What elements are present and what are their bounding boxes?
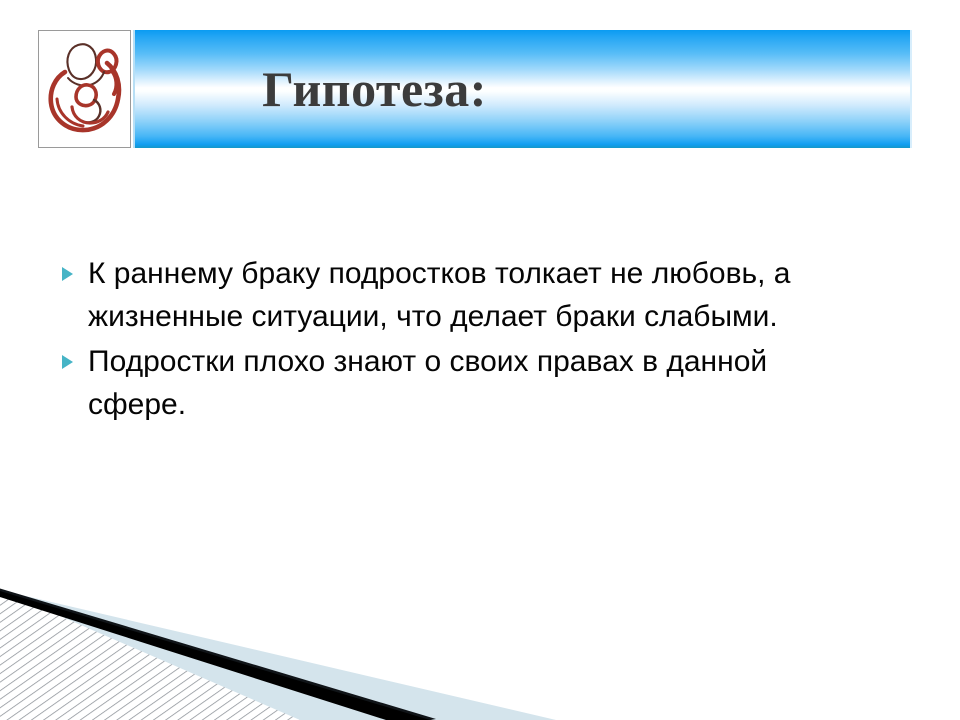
angles-corner-decoration xyxy=(0,545,960,720)
slide-header: Гипотеза: xyxy=(0,0,960,180)
page-title: Гипотеза: xyxy=(133,30,912,148)
content-body: К раннему браку подростков толкает не лю… xyxy=(58,252,888,428)
list-item-text: К раннему браку подростков толкает не лю… xyxy=(88,252,858,338)
triangle-bullet-icon xyxy=(58,340,88,369)
list-item-text: Подростки плохо знают о своих правах в д… xyxy=(88,340,858,426)
triangle-bullet-icon xyxy=(58,252,88,281)
family-logo xyxy=(38,30,131,148)
list-item: К раннему браку подростков толкает не лю… xyxy=(58,252,888,338)
slide: Гипотеза: К раннему браку подростков тол… xyxy=(0,0,960,720)
list-item: Подростки плохо знают о своих правах в д… xyxy=(58,340,888,426)
